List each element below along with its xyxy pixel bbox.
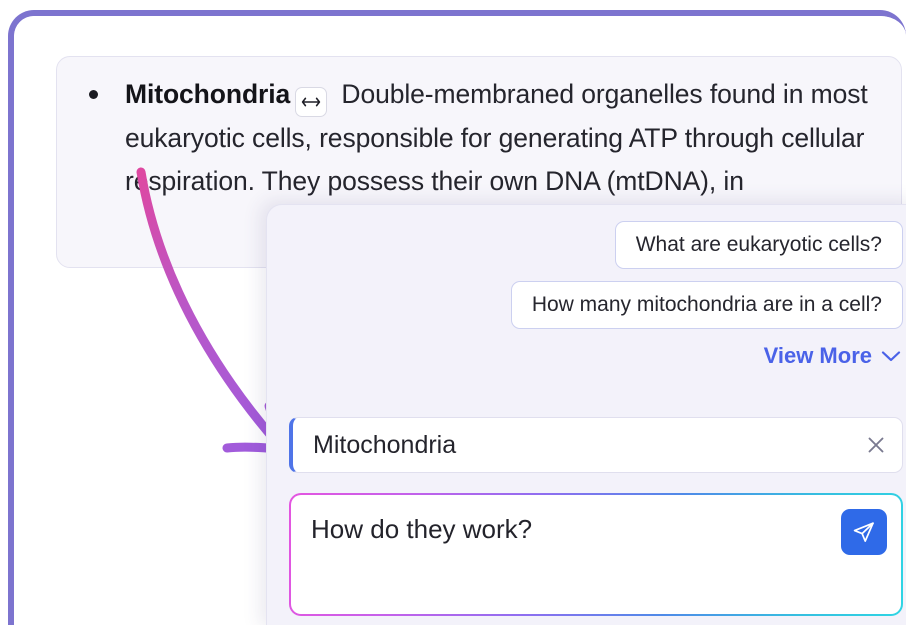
view-more-label: View More (764, 343, 872, 369)
send-button[interactable] (841, 509, 887, 555)
send-icon (852, 520, 876, 544)
app-window-frame: Mitochondria Double-membraned organelles… (8, 10, 906, 625)
close-icon[interactable] (850, 434, 902, 456)
left-right-arrow-icon[interactable] (295, 87, 327, 117)
app-content-area: Mitochondria Double-membraned organelles… (14, 16, 906, 625)
question-textarea[interactable]: How do they work? (291, 495, 901, 614)
question-textarea-value[interactable]: How do they work? (311, 512, 827, 546)
term-search-input[interactable]: Mitochondria (289, 417, 903, 473)
definition-paragraph: Mitochondria Double-membraned organelles… (91, 73, 875, 203)
assistant-popup-panel: What are eukaryotic cells? How many mito… (266, 204, 906, 625)
chevron-down-icon (881, 350, 901, 362)
bullet-dot-icon (89, 90, 98, 99)
definition-term: Mitochondria (125, 79, 290, 109)
question-textarea-border: How do they work? (289, 493, 903, 616)
definition-bullet-row: Mitochondria Double-membraned organelles… (57, 57, 901, 203)
suggestion-list: What are eukaryotic cells? How many mito… (267, 205, 906, 329)
view-more-button[interactable]: View More (267, 329, 906, 369)
suggestion-chip[interactable]: What are eukaryotic cells? (615, 221, 903, 269)
term-input-value[interactable]: Mitochondria (293, 431, 850, 460)
suggestion-chip[interactable]: How many mitochondria are in a cell? (511, 281, 903, 329)
